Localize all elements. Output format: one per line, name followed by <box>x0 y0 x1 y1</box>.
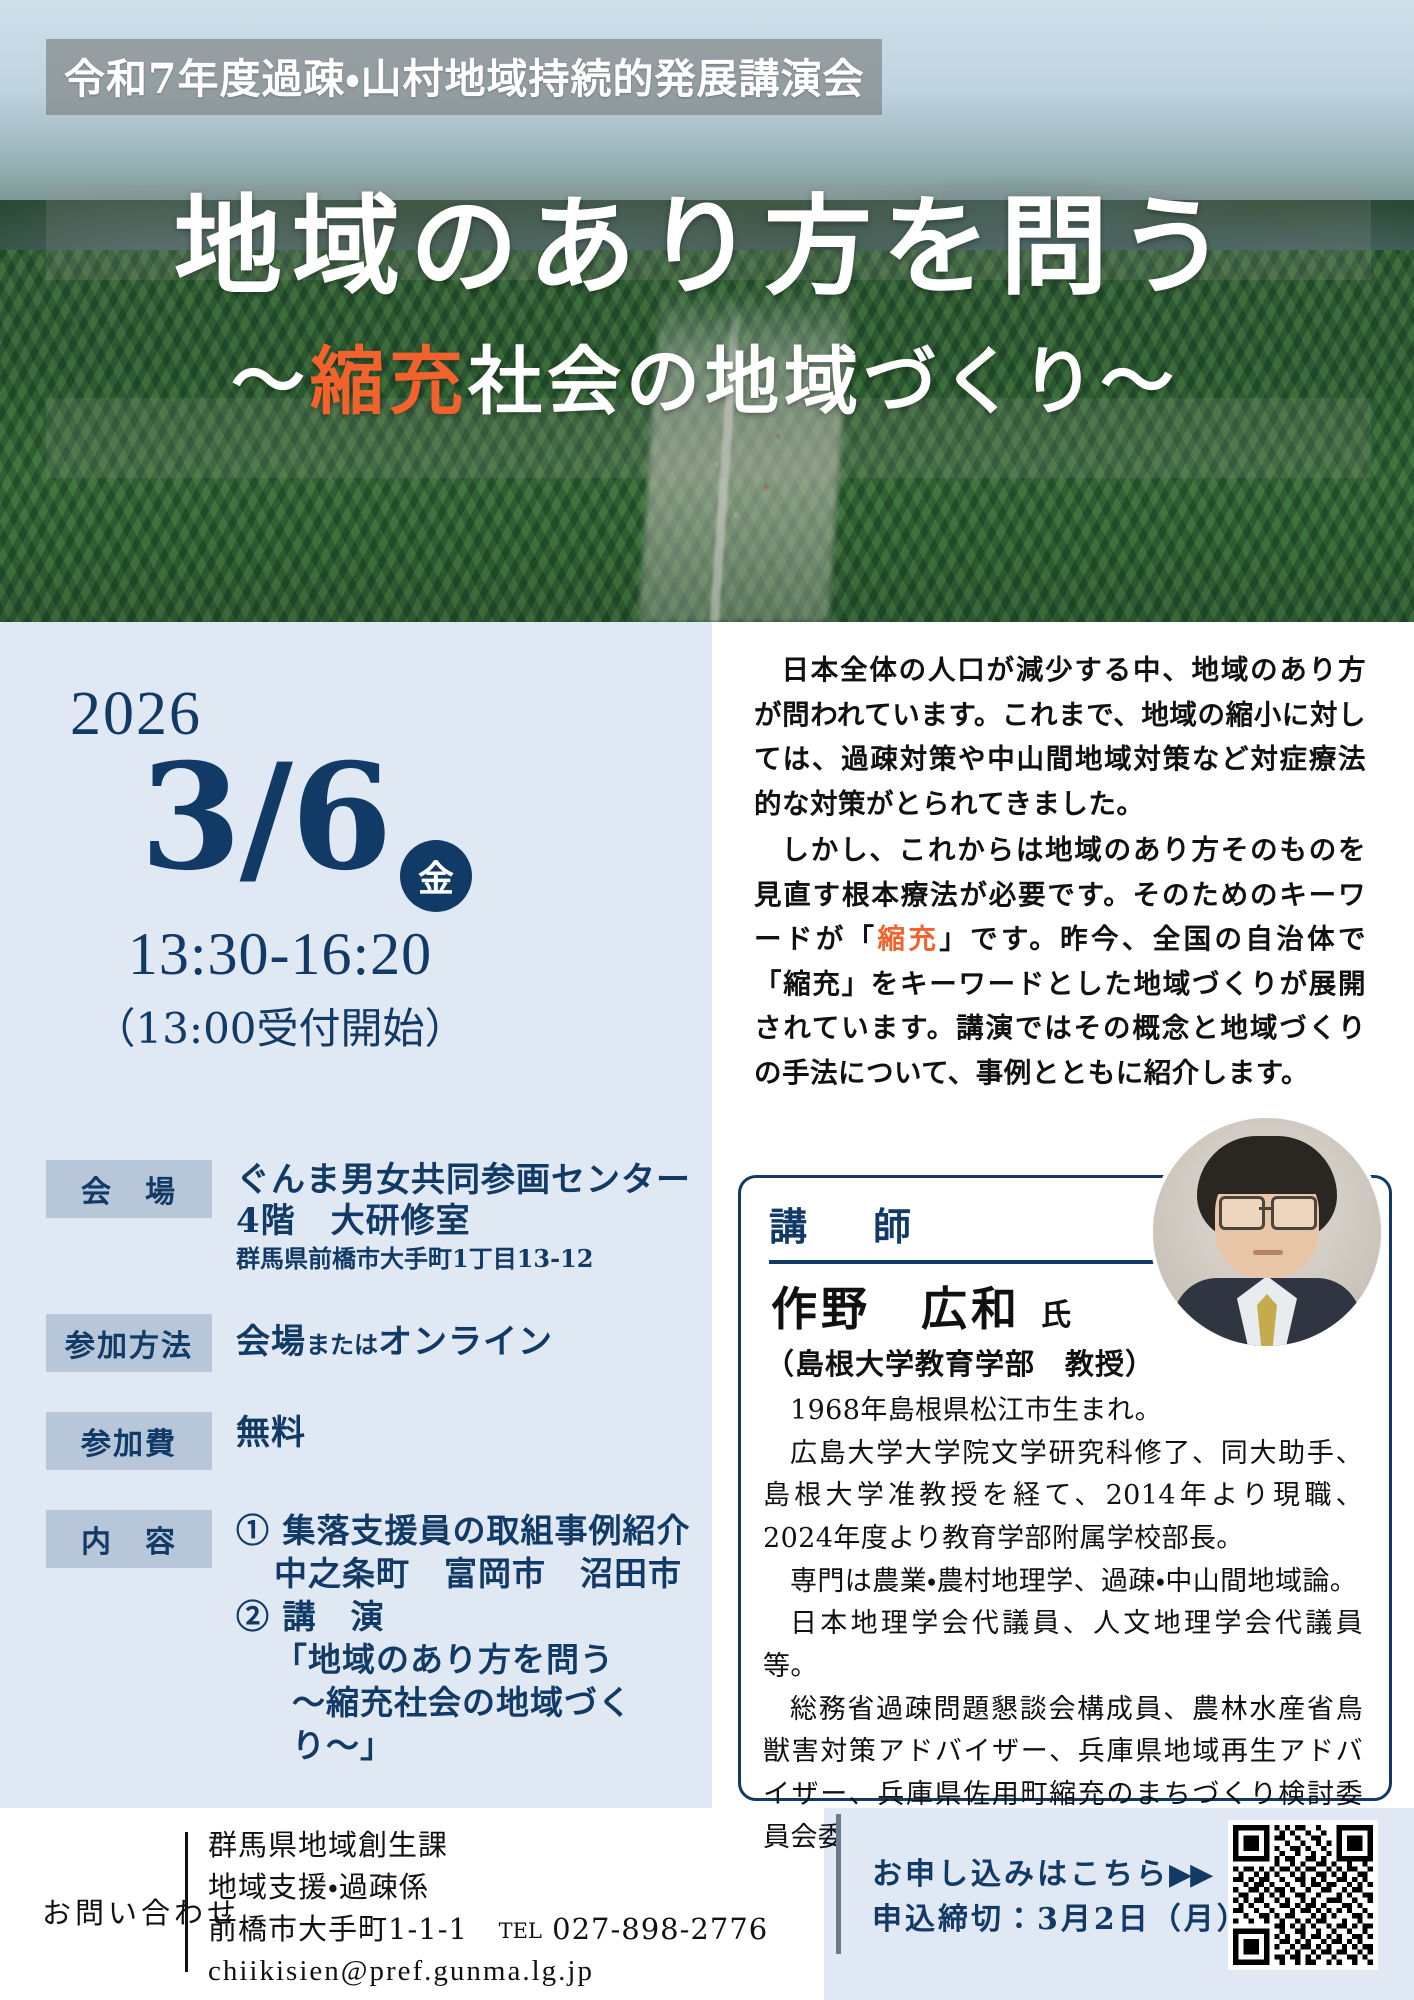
contact-org-section: 地域支援・過疎係 <box>208 1866 768 1908</box>
portrait-glasses-bridge <box>1259 1207 1271 1210</box>
venue-room: 4階 大研修室 <box>236 1201 706 1242</box>
info-label-content: 内 容 <box>46 1510 212 1568</box>
speaker-section-heading: 講 師 <box>769 1196 925 1251</box>
poster-root: 令和7年度過疎・山村地域持続的発展講演会 地域のあり方を問う 〜縮充社会の地域づ… <box>0 0 1414 2000</box>
contact-email[interactable]: chiikisien@pref.gunma.lg.jp <box>208 1950 768 1992</box>
content-item-1-towns: 中之条町 富岡市 沼田市 <box>236 1553 706 1596</box>
method-online: オンライン <box>378 1322 553 1362</box>
info-row-fee: 参加費 無料 <box>46 1412 706 1470</box>
info-value-content: ① 集落支援員の取組事例紹介 中之条町 富岡市 沼田市 ② 講 演 「地域のあり… <box>212 1510 706 1767</box>
double-right-arrow-icon: ▶▶ <box>1169 1857 1211 1892</box>
info-row-method: 参加方法 会場またはオンライン <box>46 1314 706 1372</box>
info-label-fee: 参加費 <box>46 1412 212 1470</box>
speaker-bio-line-3: 専門は農業・農村地理学、過疎・中山間地域論。 <box>763 1561 1363 1604</box>
info-label-method: 参加方法 <box>46 1314 212 1372</box>
info-value-venue: ぐんま男女共同参画センター 4階 大研修室 群馬県前橋市大手町1丁目13-12 <box>212 1160 706 1274</box>
event-time-range: 13:30-16:20 <box>0 920 560 989</box>
intro-text: 日本全体の人口が減少する中、地域のあり方が問われています。これまで、地域の縮小に… <box>754 648 1366 1097</box>
contact-phone: 027-898-2776 <box>552 1912 768 1946</box>
content-item-2-title-line2: 〜縮充社会の地域づくり〜」 <box>236 1682 706 1768</box>
info-value-fee: 無料 <box>212 1412 706 1455</box>
portrait-glasses-right <box>1271 1196 1317 1230</box>
speaker-name-suffix: 氏 <box>1041 1298 1071 1333</box>
apply-text: お申し込みはこちら▶▶ 申込締切：3月2日（月） <box>872 1852 1250 1942</box>
event-info-table: 会 場 ぐんま男女共同参画センター 4階 大研修室 群馬県前橋市大手町1丁目13… <box>46 1160 706 1807</box>
contact-address: 前橋市大手町1-1-1 <box>208 1912 468 1946</box>
tel-label: TEL <box>499 1919 542 1943</box>
apply-deadline: 申込締切：3月2日（月） <box>872 1897 1250 1942</box>
contact-divider <box>185 1832 188 1972</box>
qr-code-svg <box>1228 1820 1378 1970</box>
speaker-portrait-avatar <box>1153 1118 1381 1346</box>
speaker-bio: 1968年島根県松江市生まれ。 広島大学大学院文学研究科修了、同大助手、島根大学… <box>763 1390 1363 1859</box>
speaker-name-text: 作野 広和 <box>771 1282 1021 1336</box>
portrait-mouth <box>1253 1250 1283 1255</box>
info-row-venue: 会 場 ぐんま男女共同参画センター 4階 大研修室 群馬県前橋市大手町1丁目13… <box>46 1160 706 1274</box>
venue-address: 群馬県前橋市大手町1丁目13-12 <box>236 1243 706 1274</box>
subtitle-prefix: 〜 <box>231 339 310 425</box>
info-value-method: 会場またはオンライン <box>212 1314 706 1363</box>
content-item-2-title-line1: 「地域のあり方を問う <box>236 1639 706 1682</box>
intro-paragraph-1: 日本全体の人口が減少する中、地域のあり方が問われています。これまで、地域の縮小に… <box>754 648 1366 826</box>
portrait-glasses-left <box>1219 1196 1265 1230</box>
apply-cta-line: お申し込みはこちら▶▶ <box>872 1852 1250 1897</box>
page-subtitle: 〜縮充社会の地域づくり〜 <box>40 322 1370 429</box>
qr-code-icon[interactable] <box>1228 1820 1378 1970</box>
speaker-bio-line-1: 1968年島根県松江市生まれ。 <box>763 1390 1363 1433</box>
intro-paragraph-2: しかし、これからは地域のあり方そのものを見直す根本療法が必要です。そのためのキー… <box>754 828 1366 1095</box>
apply-cta-label: お申し込みはこちら <box>872 1857 1169 1892</box>
event-month-day: 3/6 <box>140 745 391 891</box>
event-series-ribbon: 令和7年度過疎・山村地域持続的発展講演会 <box>46 39 882 115</box>
contact-address-line: 前橋市大手町1-1-1 TEL 027-898-2776 <box>208 1908 768 1950</box>
speaker-name: 作野 広和 氏 <box>771 1273 1071 1339</box>
speaker-bio-line-4: 日本地理学会代議員、人文地理学会代議員等。 <box>763 1603 1363 1688</box>
content-item-2: ② 講 演 <box>236 1596 706 1639</box>
event-reception-time: （13:00受付開始） <box>0 995 560 1056</box>
content-item-1: ① 集落支援員の取組事例紹介 <box>236 1511 691 1550</box>
subtitle-accent: 縮充 <box>310 339 468 425</box>
speaker-bio-line-2: 広島大学大学院文学研究科修了、同大助手、島根大学准教授を経て、2014年より現職… <box>763 1433 1363 1561</box>
intro-p2-keyword: 縮充 <box>878 923 940 955</box>
speaker-card: 講 師 作野 広和 氏 （島根大学教育学部 教授） 1968年島根県松江市生まれ… <box>738 1175 1392 1801</box>
speaker-affiliation: （島根大学教育学部 教授） <box>765 1341 1155 1383</box>
venue-name: ぐんま男女共同参画センター <box>236 1160 706 1201</box>
apply-box-accent-bar <box>836 1814 841 1954</box>
info-label-venue: 会 場 <box>46 1160 212 1218</box>
page-title: 地域のあり方を問う <box>40 160 1370 316</box>
info-row-content: 内 容 ① 集落支援員の取組事例紹介 中之条町 富岡市 沼田市 ② 講 演 「地… <box>46 1510 706 1767</box>
weekday-badge: 金 <box>400 840 472 912</box>
method-conjunction: または <box>306 1330 378 1359</box>
method-onsite: 会場 <box>236 1322 306 1362</box>
contact-org-department: 群馬県地域創生課 <box>208 1824 768 1866</box>
subtitle-rest: 社会の地域づくり〜 <box>468 339 1179 425</box>
contact-details: 群馬県地域創生課 地域支援・過疎係 前橋市大手町1-1-1 TEL 027-89… <box>208 1824 768 1992</box>
